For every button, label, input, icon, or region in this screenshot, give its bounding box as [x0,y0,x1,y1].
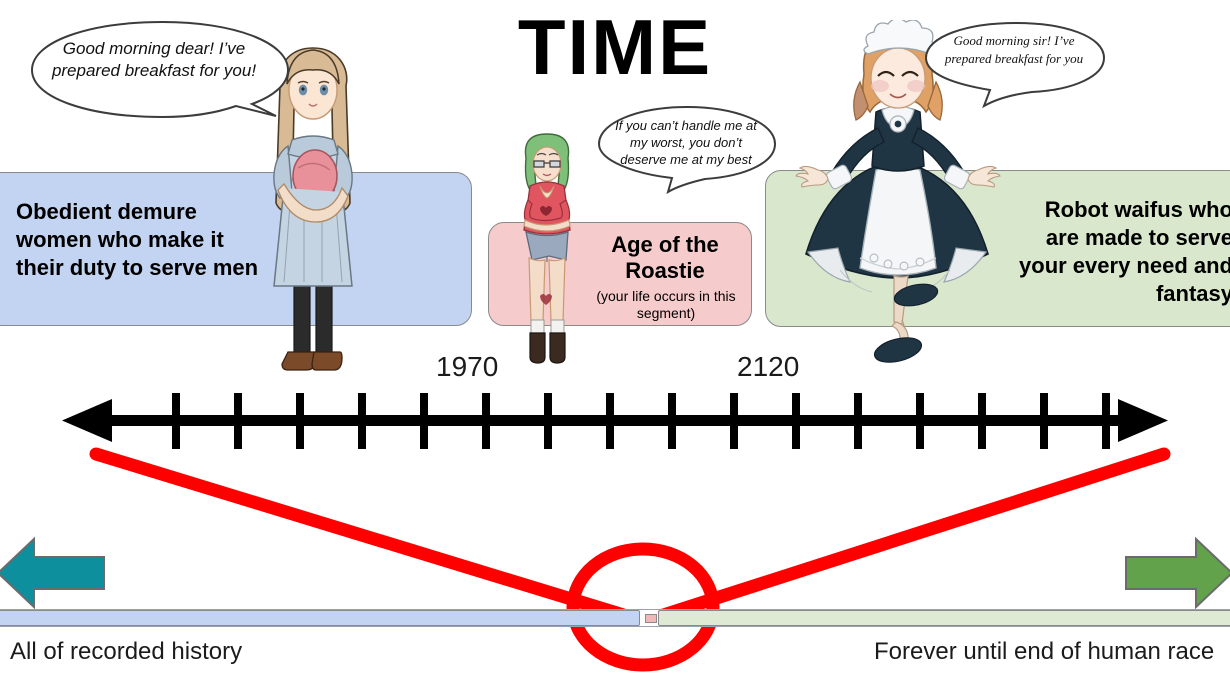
time-axis-line [62,399,1168,442]
scrollbar-segment-past[interactable] [0,610,640,626]
speech-bubble-roastie-text: If you can’t handle me at my worst, you … [610,118,762,169]
present-era-title: Age of the Roastie [580,232,750,285]
speech-bubble-housewife-text: Good morning dear! I’ve prepared breakfa… [36,38,272,83]
speech-bubble-maid-text: Good morning sir! I’ve prepared breakfas… [938,32,1090,67]
caption-left: All of recorded history [10,638,242,666]
future-era-label: Robot waifus who are made to serve your … [1015,196,1230,309]
past-era-label: Obedient demure women who make it their … [16,198,266,282]
scrollbar-segment-future[interactable] [658,610,1230,626]
meme-canvas: TIME Obedient demure women who make it t… [0,0,1230,690]
scroll-left-arrow-icon[interactable] [0,533,106,613]
scroll-right-arrow-icon[interactable] [1124,533,1230,613]
present-era-subtitle: (your life occurs in this segment) [578,288,754,322]
year-label-start: 1970 [436,351,498,383]
roastie-character-illustration [512,128,582,368]
scrollbar-segment-present[interactable] [645,614,657,623]
caption-right: Forever until end of human race [874,638,1214,666]
